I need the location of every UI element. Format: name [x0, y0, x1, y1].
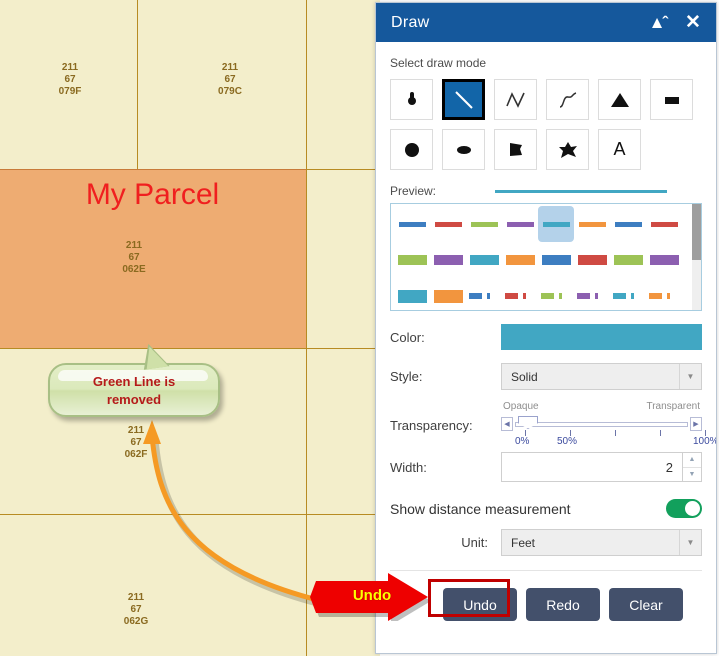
circle-icon [402, 140, 422, 160]
map-canvas[interactable]: 211 67 079F 211 67 079C 211 67 062E 211 … [0, 0, 380, 656]
parcel-label-079C: 211 67 079C [190, 62, 270, 98]
close-icon[interactable]: ✕ [678, 3, 708, 42]
show-distance-toggle[interactable] [666, 499, 702, 518]
swatch-2-1[interactable] [430, 278, 466, 311]
swatch-sample [577, 293, 607, 299]
swatch-sample [398, 290, 427, 303]
transparency-track[interactable] [515, 422, 688, 427]
undo-banner-label: Undo [336, 587, 408, 604]
chevron-down-icon[interactable]: ▼ [679, 530, 701, 555]
undo-banner-arrow: Undo [310, 573, 438, 626]
parcel-062G[interactable] [0, 514, 307, 656]
draw-mode-freehand-polygon[interactable] [546, 129, 589, 170]
draw-mode-triangle[interactable] [598, 79, 641, 120]
freepoly-icon [558, 140, 578, 160]
draw-mode-rectangle[interactable] [650, 79, 693, 120]
swatch-1-4[interactable] [538, 242, 574, 278]
triangle-icon [610, 91, 630, 109]
show-distance-label: Show distance measurement [390, 501, 666, 517]
rectangle-icon [662, 93, 682, 107]
line-icon [453, 89, 475, 111]
transparency-row: Transparency: Opaque Transparent ◀ ▶ [390, 403, 702, 448]
swatch-sample [470, 255, 499, 265]
draw-mode-freehand-polyline[interactable] [546, 79, 589, 120]
preview-line-sample [495, 190, 667, 193]
swatch-0-2[interactable] [466, 206, 502, 242]
transparency-tick-100: 100% [693, 436, 717, 447]
swatch-sample [649, 293, 679, 299]
transparency-tick-50: 50% [557, 436, 577, 447]
swatch-0-1[interactable] [430, 206, 466, 242]
preview-swatch-grid[interactable] [390, 203, 702, 311]
color-swatch-button[interactable] [501, 324, 702, 350]
swatch-sample [398, 255, 427, 265]
swatch-sample [471, 222, 498, 227]
transparency-tick [660, 430, 661, 436]
swatch-2-7[interactable] [646, 278, 682, 311]
width-stepper[interactable]: ▲ ▼ [683, 452, 702, 482]
swatch-0-3[interactable] [502, 206, 538, 242]
preview-header-row: Preview: [390, 184, 702, 198]
swatch-sample [506, 255, 535, 265]
style-select-value: Solid [511, 370, 538, 384]
swatch-sample [399, 222, 426, 227]
callout-tail [144, 345, 169, 370]
parcel-label-079F: 211 67 079F [30, 62, 110, 98]
transparency-increment-button[interactable]: ▶ [690, 417, 702, 431]
swatch-sample [434, 255, 463, 265]
transparency-opaque-caption: Opaque [503, 401, 539, 412]
width-row: Width: 2 ▲ ▼ [390, 452, 702, 482]
swatch-sample [435, 222, 462, 227]
swatch-row-0 [391, 206, 685, 242]
swatch-0-4[interactable] [538, 206, 574, 242]
swatch-sample [542, 255, 571, 265]
swatch-sample [615, 222, 642, 227]
chevron-down-icon[interactable]: ▼ [679, 364, 701, 389]
panel-divider [390, 570, 702, 571]
swatch-0-6[interactable] [610, 206, 646, 242]
draw-mode-row-2: A [390, 129, 702, 170]
unit-select-value: Feet [511, 536, 535, 550]
swatch-2-5[interactable] [574, 278, 610, 311]
toggle-knob [685, 501, 700, 516]
draw-mode-ellipse[interactable] [442, 129, 485, 170]
swatch-2-0[interactable] [394, 278, 430, 311]
unit-label: Unit: [390, 535, 501, 550]
ellipse-icon [453, 142, 475, 158]
point-icon [405, 91, 419, 109]
draw-mode-text[interactable]: A [598, 129, 641, 170]
style-control: Solid ▼ [501, 363, 702, 390]
color-control [501, 324, 702, 350]
panel-title: Draw [391, 14, 430, 32]
width-control: 2 ▲ ▼ [501, 452, 702, 482]
unit-select[interactable]: Feet ▼ [501, 529, 702, 556]
swatch-0-0[interactable] [394, 206, 430, 242]
parcel-label-062F: 211 67 062F [96, 425, 176, 461]
draw-mode-polygon[interactable] [494, 129, 537, 170]
green-line-removed-callout: Green Line is removed [48, 363, 220, 417]
style-select[interactable]: Solid ▼ [501, 363, 702, 390]
swatch-sample [543, 222, 570, 227]
chevron-up-double-icon[interactable]: ▲̂ [642, 3, 672, 42]
swatch-sample [578, 255, 607, 265]
panel-body: Select draw mode [376, 56, 716, 621]
swatch-sample [469, 293, 499, 299]
style-label: Style: [390, 369, 501, 384]
text-tool-letter: A [613, 139, 625, 160]
parcel-title-annotation: My Parcel [0, 178, 305, 212]
preview-label: Preview: [390, 184, 495, 198]
transparency-tick [615, 430, 616, 436]
swatch-row-1 [391, 242, 685, 278]
color-label: Color: [390, 330, 501, 345]
transparency-tick-0: 0% [515, 436, 529, 447]
swatch-sample [614, 255, 643, 265]
draw-panel: Draw ▲̂ ✕ Select draw mode [375, 2, 717, 654]
transparency-transparent-caption: Transparent [646, 401, 700, 412]
swatch-1-5[interactable] [574, 242, 610, 278]
transparency-control: Opaque Transparent ◀ ▶ 0% 50% 100% [501, 403, 702, 448]
redo-button[interactable]: Redo [526, 588, 600, 621]
swatch-2-2[interactable] [466, 278, 502, 311]
polyline-icon [505, 90, 527, 110]
draw-mode-line[interactable] [442, 79, 485, 120]
swatch-sample [434, 290, 463, 303]
swatch-sample [505, 293, 535, 299]
swatch-0-5[interactable] [574, 206, 610, 242]
swatch-sample [650, 255, 679, 265]
draw-mode-polyline[interactable] [494, 79, 537, 120]
parcel-east-mid2[interactable] [306, 348, 380, 515]
parcel-east-mid[interactable] [306, 169, 380, 349]
undo-button[interactable]: Undo [443, 588, 517, 621]
unit-row: Unit: Feet ▼ [390, 529, 702, 556]
panel-header: Draw ▲̂ ✕ [376, 3, 716, 42]
swatch-scrollbar-thumb[interactable] [692, 204, 701, 260]
clear-button[interactable]: Clear [609, 588, 683, 621]
draw-mode-label: Select draw mode [390, 56, 702, 70]
swatch-0-7[interactable] [646, 206, 682, 242]
swatch-1-3[interactable] [502, 242, 538, 278]
swatch-1-6[interactable] [610, 242, 646, 278]
swatch-2-3[interactable] [502, 278, 538, 311]
swatch-sample [613, 293, 643, 299]
swatch-2-4[interactable] [538, 278, 574, 311]
swatch-row-2 [391, 278, 685, 311]
polygon-icon [506, 140, 526, 160]
callout-text: Green Line is removed [50, 373, 218, 409]
swatch-1-0[interactable] [394, 242, 430, 278]
swatch-2-6[interactable] [610, 278, 646, 311]
freehand-icon [557, 90, 579, 110]
transparency-slider-thumb[interactable] [518, 416, 538, 429]
color-row: Color: [390, 324, 702, 350]
draw-mode-row-1 [390, 79, 702, 120]
width-increment-icon[interactable]: ▲ [683, 453, 701, 468]
swatch-sample [541, 293, 571, 299]
draw-mode-point[interactable] [390, 79, 433, 120]
swatch-scrollbar[interactable] [692, 204, 701, 310]
show-distance-row: Show distance measurement [390, 499, 702, 518]
width-label: Width: [390, 460, 501, 475]
parcel-label-062G: 211 67 062G [96, 592, 176, 628]
unit-control: Feet ▼ [501, 529, 702, 556]
draw-mode-circle[interactable] [390, 129, 433, 170]
parcel-label-062E: 211 67 062E [94, 240, 174, 276]
swatch-1-7[interactable] [646, 242, 682, 278]
swatch-sample [507, 222, 534, 227]
width-input[interactable]: 2 [501, 452, 683, 482]
style-row: Style: Solid ▼ [390, 363, 702, 390]
transparency-label: Transparency: [390, 418, 501, 433]
width-decrement-icon[interactable]: ▼ [683, 468, 701, 482]
transparency-decrement-button[interactable]: ◀ [501, 417, 513, 431]
preview-line-wrap [495, 190, 702, 193]
swatch-1-1[interactable] [430, 242, 466, 278]
swatch-sample [579, 222, 606, 227]
parcel-east-top[interactable] [306, 0, 380, 170]
swatch-sample [651, 222, 678, 227]
swatch-1-2[interactable] [466, 242, 502, 278]
